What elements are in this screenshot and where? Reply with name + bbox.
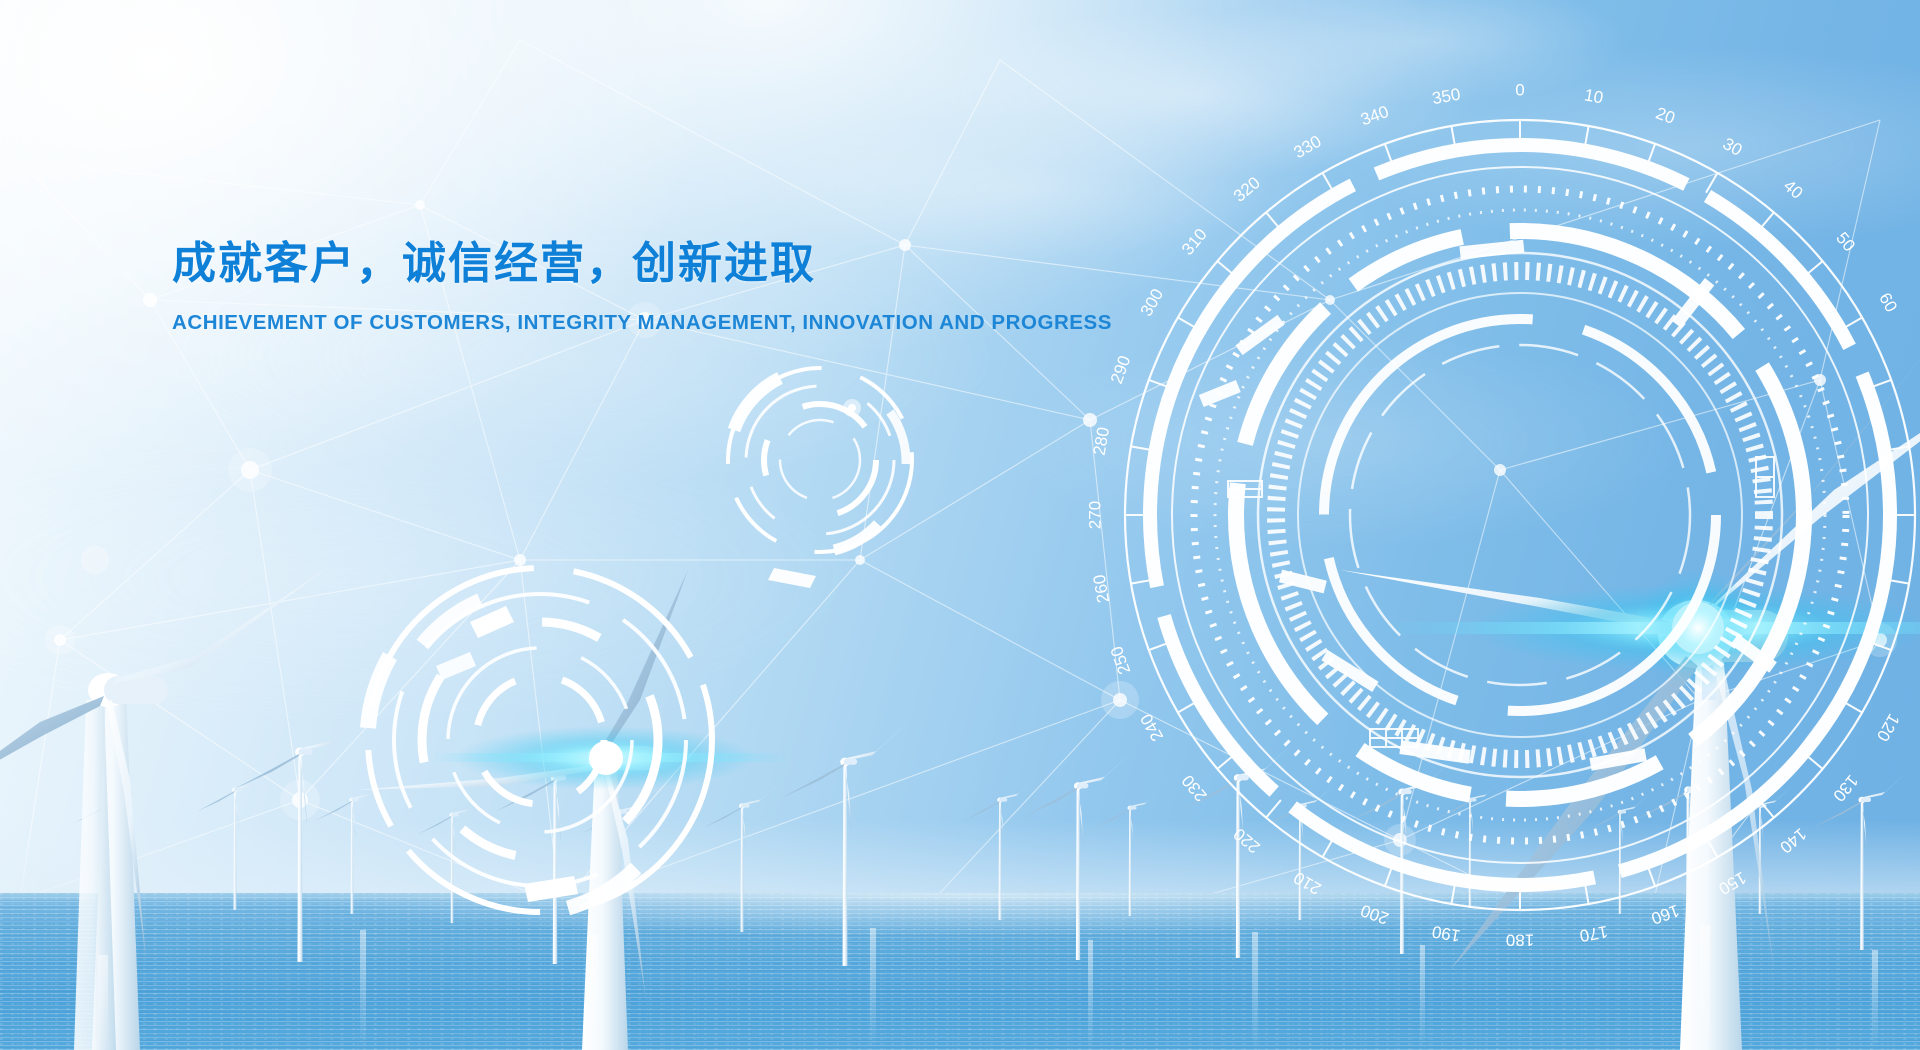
- svg-text:230: 230: [1178, 771, 1211, 805]
- svg-text:280: 280: [1090, 426, 1114, 457]
- svg-text:190: 190: [1431, 922, 1462, 946]
- page-title: 成就客户，诚信经营，创新进取: [172, 238, 1112, 291]
- svg-text:170: 170: [1578, 922, 1609, 946]
- svg-text:60: 60: [1875, 290, 1901, 316]
- svg-text:50: 50: [1832, 228, 1859, 255]
- water-reflections: [98, 925, 1878, 1050]
- turbine-foreground-right: [1340, 340, 1920, 1050]
- svg-text:30: 30: [1720, 134, 1746, 160]
- svg-text:300: 300: [1137, 285, 1168, 319]
- hud-dial-large: 0102030405060120130140150160170180190200…: [1085, 80, 1915, 949]
- svg-text:260: 260: [1090, 573, 1114, 604]
- dial-degree-labels: 0102030405060120130140150160170180190200…: [1085, 80, 1903, 949]
- svg-text:240: 240: [1137, 710, 1168, 744]
- svg-text:330: 330: [1290, 132, 1324, 163]
- svg-text:320: 320: [1230, 173, 1264, 206]
- wind-farm-scene: 0102030405060120130140150160170180190200…: [0, 0, 1920, 1050]
- svg-text:290: 290: [1107, 353, 1135, 386]
- hud-ring-small: [728, 368, 912, 588]
- banner-stage: 0102030405060120130140150160170180190200…: [0, 0, 1920, 1050]
- turbine-foreground-left: [0, 566, 330, 1050]
- page-subtitle: ACHIEVEMENT OF CUSTOMERS, INTEGRITY MANA…: [172, 311, 1112, 335]
- svg-text:10: 10: [1583, 85, 1605, 107]
- svg-text:180: 180: [1506, 931, 1534, 950]
- svg-text:160: 160: [1649, 901, 1682, 929]
- svg-text:350: 350: [1431, 85, 1462, 109]
- svg-text:210: 210: [1290, 868, 1324, 899]
- svg-text:140: 140: [1776, 824, 1810, 857]
- svg-text:0: 0: [1515, 80, 1524, 99]
- headline-block: 成就客户，诚信经营，创新进取 ACHIEVEMENT OF CUSTOMERS,…: [172, 238, 1112, 335]
- svg-text:130: 130: [1829, 771, 1862, 805]
- svg-text:20: 20: [1653, 103, 1677, 127]
- svg-text:310: 310: [1178, 225, 1211, 259]
- svg-text:220: 220: [1230, 824, 1264, 857]
- svg-text:340: 340: [1358, 102, 1391, 130]
- svg-text:270: 270: [1085, 501, 1104, 529]
- svg-text:120: 120: [1873, 710, 1904, 744]
- svg-text:250: 250: [1107, 644, 1135, 677]
- svg-text:200: 200: [1358, 901, 1391, 929]
- svg-text:40: 40: [1780, 176, 1807, 203]
